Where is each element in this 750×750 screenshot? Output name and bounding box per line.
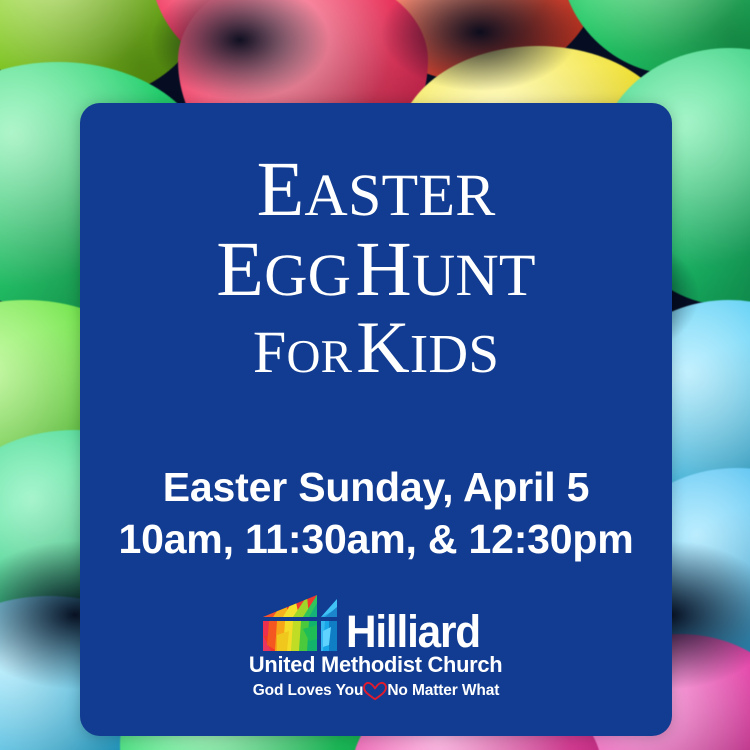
event-details: Easter Sunday, April 5 10am, 11:30am, & …	[80, 461, 672, 566]
easter-egg-hunt-poster: EASTER EGGHUNT FORKIDS Easter Sunday, Ap…	[0, 0, 750, 750]
content-card: EASTER EGGHUNT FORKIDS Easter Sunday, Ap…	[80, 103, 672, 736]
logo-top-row: Hilliard	[263, 595, 488, 651]
logo-tower-roof	[319, 595, 337, 619]
hilliard-church-rainbow-mark	[263, 595, 337, 651]
logo-tagline: God Loves You No Matter What	[253, 681, 500, 701]
logo-roof	[263, 595, 317, 617]
egg-shadow-gap	[150, 0, 330, 100]
logo-wordmark: Hilliard	[346, 613, 480, 651]
heart-icon	[362, 681, 388, 701]
page-title: EASTER EGGHUNT FORKIDS	[80, 151, 672, 384]
headline-line-1: EASTER	[80, 151, 672, 227]
event-times: 10am, 11:30am, & 12:30pm	[80, 513, 672, 565]
church-logo: Hilliard United Methodist Church God Lov…	[80, 595, 672, 701]
headline-line-3: FORKIDS	[80, 312, 672, 385]
logo-tower-body	[321, 621, 337, 651]
tagline-text-before: God Loves You	[253, 682, 364, 700]
headline-line-2: EGGHUNT	[80, 231, 672, 307]
egg-shadow-gap	[380, 0, 580, 92]
logo-subtitle: United Methodist Church	[249, 653, 502, 678]
tagline-text-after: No Matter What	[387, 682, 499, 700]
event-date: Easter Sunday, April 5	[80, 461, 672, 513]
logo-body	[263, 621, 317, 651]
